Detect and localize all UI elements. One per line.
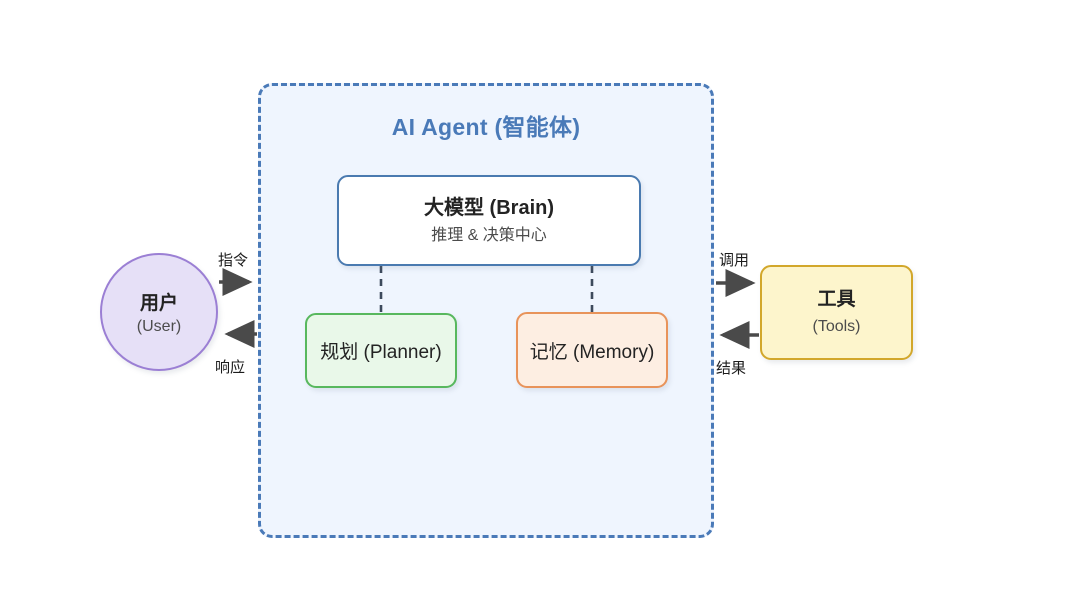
node-memory-label: 记忆 (Memory) [530, 337, 655, 364]
node-user-subtitle: (User) [137, 318, 181, 336]
node-tools-subtitle: (Tools) [812, 316, 860, 338]
agent-title: AI Agent (智能体) [258, 108, 714, 142]
edge-label-instruction: 指令 [218, 249, 248, 270]
edge-label-invoke: 调用 [719, 249, 749, 270]
diagram-canvas: AI Agent (智能体) 用户 (User) 大模型 (Brain) 推理 … [0, 0, 1080, 602]
node-tools-title: 工具 [817, 287, 855, 313]
edge-label-result: 结果 [716, 357, 746, 378]
node-user-title: 用户 [140, 288, 178, 315]
node-planner[interactable]: 规划 (Planner) [305, 313, 457, 388]
node-planner-label: 规划 (Planner) [320, 337, 441, 364]
edge-label-response: 响应 [215, 356, 245, 377]
node-brain[interactable]: 大模型 (Brain) 推理 & 决策中心 [337, 175, 641, 266]
agent-boundary-container [258, 83, 714, 538]
node-user[interactable]: 用户 (User) [100, 253, 218, 371]
node-brain-subtitle: 推理 & 决策中心 [431, 225, 547, 247]
node-memory[interactable]: 记忆 (Memory) [516, 312, 668, 388]
node-brain-title: 大模型 (Brain) [424, 195, 554, 222]
node-tools[interactable]: 工具 (Tools) [760, 265, 913, 360]
